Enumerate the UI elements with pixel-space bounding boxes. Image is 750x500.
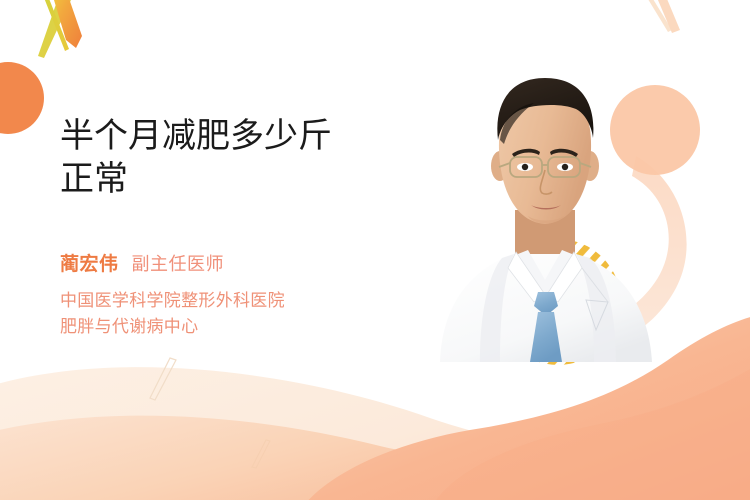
text-layer: 半个月减肥多少斤 正常 蔺宏伟 副主任医师 中国医学科学院整形外科医院 肥胖与代… bbox=[0, 0, 750, 500]
page-title: 半个月减肥多少斤 正常 bbox=[60, 115, 420, 201]
doctor-name: 蔺宏伟 bbox=[60, 249, 119, 276]
doctor-identity: 蔺宏伟 副主任医师 bbox=[60, 249, 224, 276]
doctor-affiliation: 中国医学科学院整形外科医院 肥胖与代谢病中心 bbox=[60, 288, 285, 340]
doctor-professional-title: 副主任医师 bbox=[132, 250, 225, 276]
doctor-info-card: 半个月减肥多少斤 正常 蔺宏伟 副主任医师 中国医学科学院整形外科医院 肥胖与代… bbox=[0, 0, 750, 500]
